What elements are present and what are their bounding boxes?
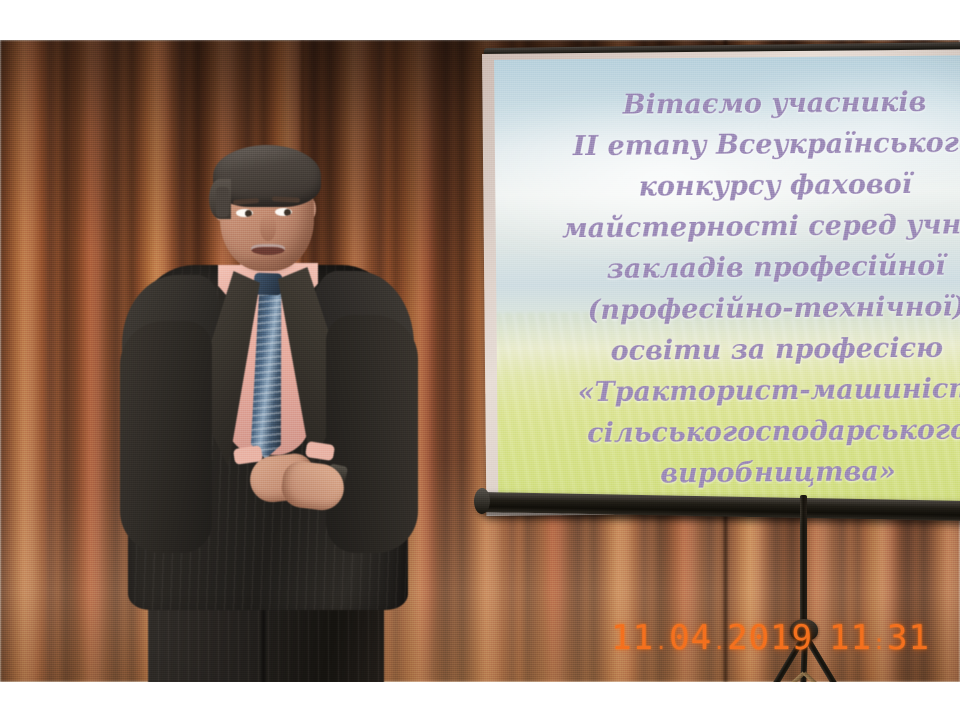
photograph: Вітаємо учасників II етапу Всеукраїнсько… bbox=[0, 0, 960, 720]
presenter bbox=[120, 125, 420, 682]
timestamp-year: 2019 bbox=[727, 618, 813, 658]
slide-line: (професійно-технічної) bbox=[496, 285, 960, 331]
slide-line: освіти за професією bbox=[497, 326, 960, 372]
sideburn bbox=[216, 187, 229, 217]
slide-line: «Тракторист-машиніст bbox=[497, 367, 960, 413]
camera-timestamp: 11.04.201911:31 bbox=[611, 618, 930, 658]
chin-shadow bbox=[244, 257, 292, 271]
slide-line: виробництва» bbox=[498, 449, 960, 495]
screen-frame: Вітаємо учасників II етапу Всеукраїнсько… bbox=[482, 49, 960, 516]
photo-frame: Вітаємо учасників II етапу Всеукраїнсько… bbox=[0, 40, 960, 682]
tripod-post bbox=[800, 495, 807, 630]
hair bbox=[213, 145, 321, 207]
slide-text-block: Вітаємо учасників II етапу Всеукраїнсько… bbox=[494, 81, 960, 496]
slide-line: конкурсу фахової bbox=[495, 163, 960, 209]
arm-left bbox=[120, 321, 212, 553]
screen-surface: Вітаємо учасників II етапу Всеукраїнсько… bbox=[494, 55, 960, 512]
trouser-crease bbox=[262, 603, 265, 682]
slide-line: закладів професійної bbox=[496, 245, 960, 291]
nose bbox=[260, 215, 276, 241]
eye-left bbox=[236, 209, 253, 217]
eye-right bbox=[275, 208, 292, 216]
arm-right bbox=[326, 315, 418, 553]
slide-line: Вітаємо учасників bbox=[494, 81, 960, 127]
slide-line: майстерності серед учнів bbox=[495, 204, 960, 250]
mouth bbox=[251, 244, 285, 255]
timestamp-hour: 11 bbox=[829, 618, 872, 658]
letterbox-bottom bbox=[0, 682, 960, 720]
timestamp-month: 04 bbox=[669, 618, 712, 658]
slide-line: II етапу Всеукраїнського bbox=[495, 122, 960, 168]
timestamp-day: 11 bbox=[611, 618, 654, 658]
timestamp-minute: 31 bbox=[887, 618, 930, 658]
slide-line: сільськогосподарського bbox=[497, 408, 960, 454]
projection-screen: Вітаємо учасників II етапу Всеукраїнсько… bbox=[478, 40, 960, 545]
letterbox-top bbox=[0, 0, 960, 40]
